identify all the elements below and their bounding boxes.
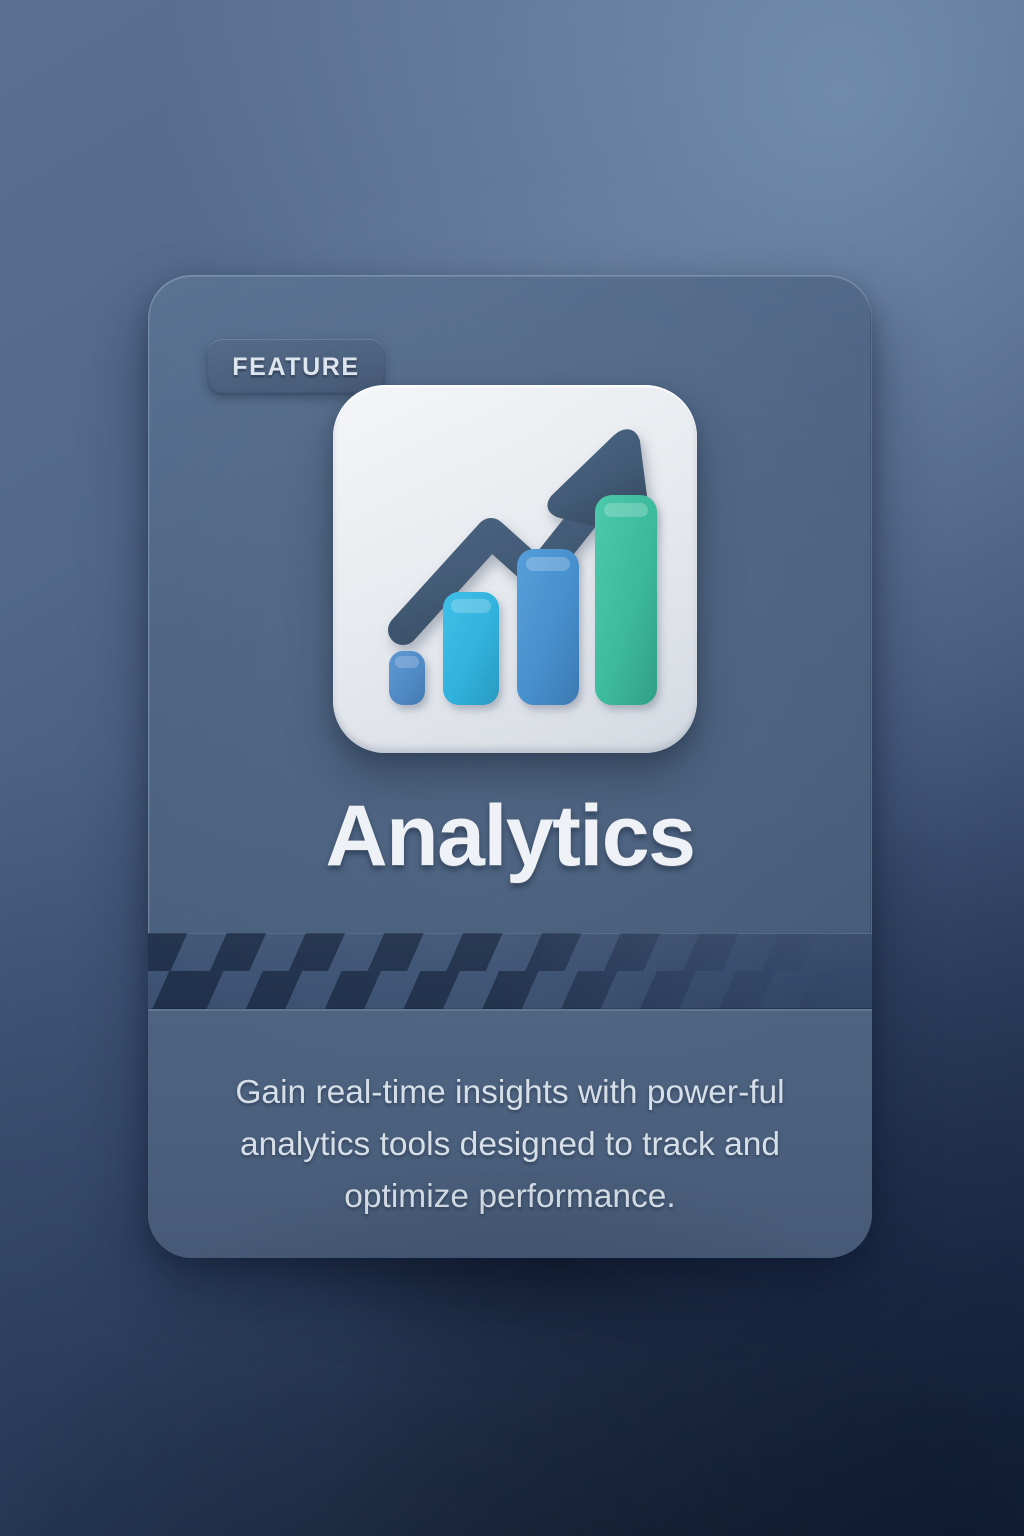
page-title: Analytics bbox=[148, 787, 872, 886]
feature-card[interactable]: FEATURE bbox=[148, 275, 872, 1258]
icon-bar-4 bbox=[595, 495, 657, 705]
card-lower-panel: Gain real-time insights with power-ful a… bbox=[148, 1009, 872, 1258]
stripe-row-top bbox=[148, 933, 872, 971]
icon-bar-2 bbox=[443, 592, 499, 705]
icon-bar-3 bbox=[517, 549, 579, 705]
analytics-icon-tile[interactable] bbox=[333, 385, 697, 753]
icon-bar-1 bbox=[389, 651, 425, 705]
stripe-row-bottom bbox=[148, 971, 872, 1009]
bar-chart-growth-icon bbox=[333, 385, 697, 753]
feature-card-canvas: FEATURE bbox=[0, 0, 1024, 1536]
card-description: Gain real-time insights with power-ful a… bbox=[202, 1067, 818, 1223]
striped-divider bbox=[148, 933, 872, 1009]
feature-badge-label: FEATURE bbox=[232, 353, 359, 382]
